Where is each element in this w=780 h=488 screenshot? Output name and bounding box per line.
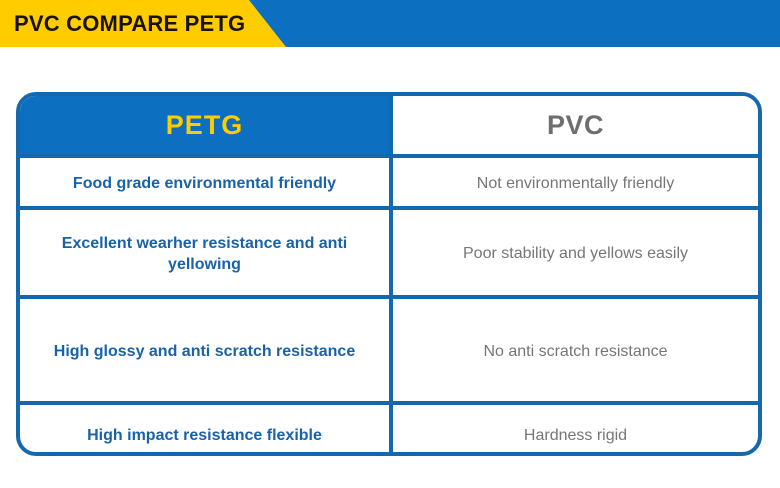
cell-pvc-2: Poor stability and yellows easily — [389, 210, 758, 299]
table-header-row: PETG PVC — [20, 96, 758, 154]
table-row: Food grade environmental friendly Not en… — [20, 154, 758, 206]
column-header-petg: PETG — [20, 96, 389, 154]
table-row: High impact resistance flexible Hardness… — [20, 401, 758, 456]
cell-pvc-1: Not environmentally friendly — [389, 158, 758, 210]
top-banner: PVC COMPARE PETG — [0, 0, 780, 47]
table-row: Excellent wearher resistance and anti ye… — [20, 206, 758, 295]
banner-title: PVC COMPARE PETG — [14, 0, 245, 47]
cell-petg-4: High impact resistance flexible — [20, 405, 389, 456]
cell-petg-3: High glossy and anti scratch resistance — [20, 299, 389, 405]
cell-pvc-4: Hardness rigid — [389, 405, 758, 456]
comparison-table: PETG PVC Food grade environmental friend… — [16, 92, 762, 456]
cell-petg-1: Food grade environmental friendly — [20, 158, 389, 210]
table-row: High glossy and anti scratch resistance … — [20, 295, 758, 401]
column-header-pvc: PVC — [389, 96, 758, 154]
cell-pvc-3: No anti scratch resistance — [389, 299, 758, 405]
cell-petg-2: Excellent wearher resistance and anti ye… — [20, 210, 389, 299]
